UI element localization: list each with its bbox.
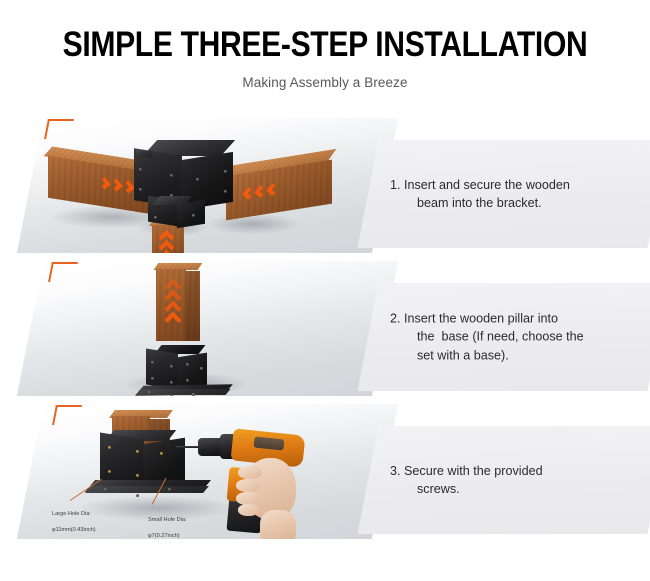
step-1-text: 1. Insert and secure the wooden beam int… [390,176,605,213]
step-2: 2. Insert the wooden pillar into the bas… [0,255,650,403]
installation-steps: 1. Insert and secure the wooden beam int… [0,112,650,552]
small-hole-callout-line1: Small Hole Dia: [148,517,187,523]
base-bracket [140,345,232,396]
step-1: 1. Insert and secure the wooden beam int… [0,112,650,260]
step-2-artwork [30,261,385,396]
page-subtitle: Making Assembly a Breeze [0,75,650,90]
small-hole-callout-line2: φ7(0.27inch) [148,533,180,539]
cordless-drill [198,424,348,539]
step-1-corner-marker [44,119,74,139]
step-2-corner-marker [48,262,78,282]
wood-pillar [156,263,200,341]
step-3-text: 3. Secure with the provided screws. [390,462,605,499]
step-3-text-panel: 3. Secure with the provided screws. [358,426,650,534]
step-1-text-panel: 1. Insert and secure the wooden beam int… [358,140,650,248]
step-3-artwork: Large Hole Dia: φ11mm(0.43inch) Small Ho… [30,404,385,539]
small-hole-callout: Small Hole Dia: φ7(0.27inch) [148,508,187,539]
step-3-corner-marker [52,405,82,425]
base-bracket-installed [92,430,210,502]
post-bracket-3way [134,140,244,230]
large-hole-callout-line2: φ11mm(0.43inch) [52,527,96,533]
step-1-illustration-panel [17,118,398,253]
step-3: Large Hole Dia: φ11mm(0.43inch) Small Ho… [0,398,650,546]
page-title: SIMPLE THREE-STEP INSTALLATION [46,27,605,62]
step-1-artwork [30,118,385,253]
page-header: SIMPLE THREE-STEP INSTALLATION Making As… [0,0,650,90]
large-hole-callout: Large Hole Dia: φ11mm(0.43inch) [52,502,96,534]
step-2-text-panel: 2. Insert the wooden pillar into the bas… [358,283,650,391]
large-hole-callout-line1: Large Hole Dia: [52,511,91,517]
step-2-text: 2. Insert the wooden pillar into the bas… [390,310,605,365]
